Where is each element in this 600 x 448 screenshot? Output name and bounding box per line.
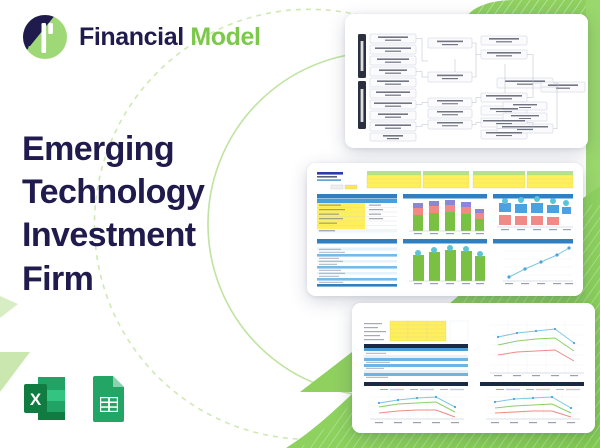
file-format-icons: X: [22, 373, 132, 423]
headline-line-2: Technology: [22, 171, 254, 214]
google-sheets-icon[interactable]: [86, 373, 132, 423]
dupont-tree-screenshot: [345, 14, 588, 148]
green-triangle-accent: [300, 352, 352, 392]
svg-text:X: X: [30, 390, 42, 409]
headline-line-4: Firm: [22, 258, 254, 301]
page-title: Emerging Technology Investment Firm: [22, 128, 254, 301]
financial-model-circle-chart-logo: [22, 14, 68, 60]
brand-wordmark: Financial Model: [79, 25, 261, 50]
headline-line-3: Investment: [22, 214, 254, 257]
panel-costs-inputs: [317, 194, 397, 233]
brand-name-part2: Model: [190, 23, 260, 51]
brand-name-part1: Financial: [79, 23, 184, 51]
financial-dashboard-card[interactable]: [307, 163, 583, 296]
microsoft-excel-icon[interactable]: X: [22, 373, 68, 423]
line-charts-card[interactable]: [352, 303, 595, 433]
dupont-analysis-card[interactable]: [345, 14, 588, 148]
green-sliver-left-small: [0, 296, 18, 318]
headline-line-1: Emerging: [22, 128, 254, 171]
trend-charts-screenshot: [352, 303, 595, 433]
brand-logo[interactable]: Financial Model: [22, 14, 261, 60]
dashboard-screenshot: [307, 163, 583, 296]
legend-bottom-left: [380, 389, 464, 390]
legend-bottom-right: [496, 389, 580, 390]
